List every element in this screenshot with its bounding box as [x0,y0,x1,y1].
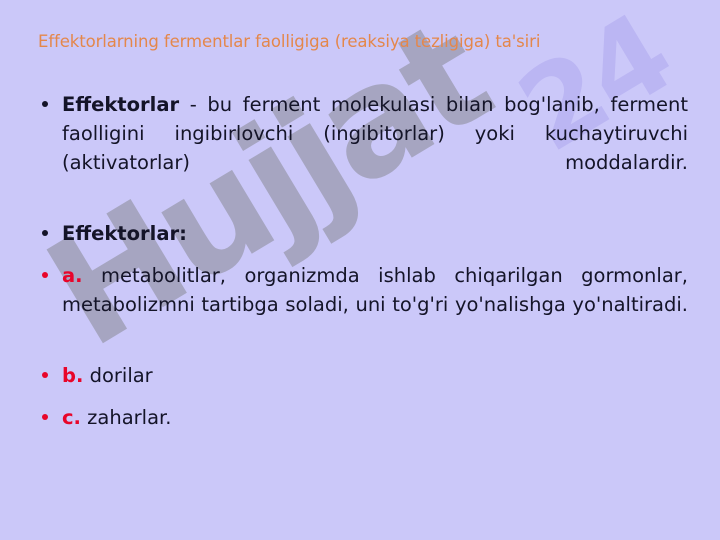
list-item-text: Effektorlar: [62,219,688,248]
list-item-text: b. dorilar [62,361,688,390]
list-item: c. zaharlar. [36,403,688,432]
list-item-text: Effektorlar - bu ferment molekulasi bila… [62,90,688,206]
list-item: Effektorlar: [36,219,688,248]
list-item-lead: b. [62,364,83,387]
bullet-dot-icon [42,230,48,236]
list-item: b. dorilar [36,361,688,390]
list-item-lead: c. [62,406,81,429]
list-item-body: zaharlar. [81,406,172,429]
list-item-text: c. zaharlar. [62,403,688,432]
list-item-text: a. metabolitlar, organizmda ishlab chiqa… [62,261,688,348]
list-item-lead: Effektorlar [62,93,179,116]
presentation-slide: Hujjat 24 Effektorlarning fermentlar fao… [0,0,720,540]
bullet-dot-icon [42,414,48,420]
bullet-dot-icon [42,372,48,378]
list-item: Effektorlar - bu ferment molekulasi bila… [36,90,688,206]
bullet-dot-icon [42,272,48,278]
list-item: a. metabolitlar, organizmda ishlab chiqa… [36,261,688,348]
list-item-body: metabolitlar, organizmda ishlab chiqaril… [62,264,688,316]
list-item-lead: Effektorlar: [62,222,187,245]
list-item-lead: a. [62,264,83,287]
bullet-dot-icon [42,101,48,107]
bullet-list: Effektorlar - bu ferment molekulasi bila… [36,90,688,432]
slide-title: Effektorlarning fermentlar faolligiga (r… [38,32,678,51]
list-item-body: dorilar [83,364,152,387]
